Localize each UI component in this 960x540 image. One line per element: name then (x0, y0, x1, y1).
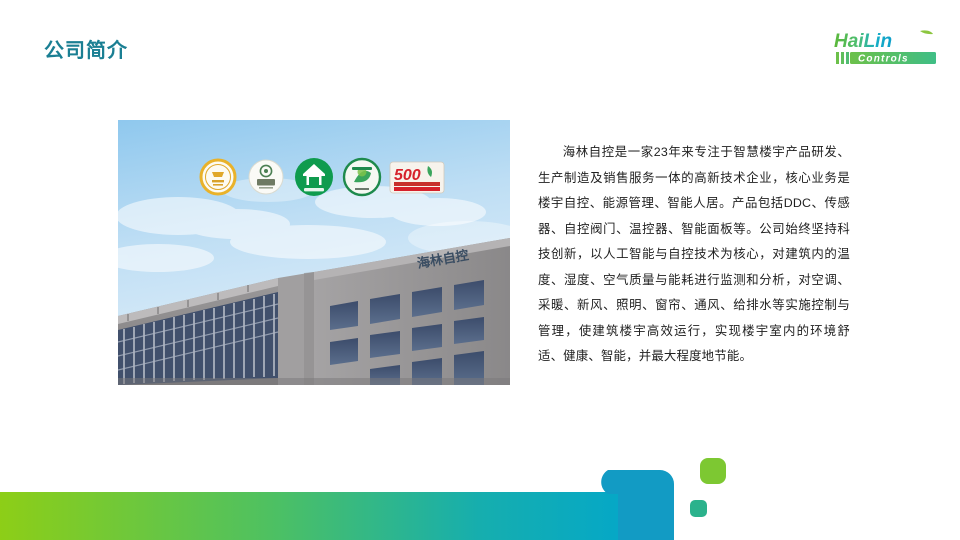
slide-root: 公司简介 HaiLin (0, 0, 960, 540)
badge-environment (344, 159, 380, 195)
bottom-gradient-bar (0, 492, 665, 540)
decor-small-teal-square (690, 500, 707, 517)
badge-green-home (295, 158, 333, 196)
badge-500-strong: 500 (390, 162, 444, 193)
hailin-controls-logo: HaiLin Controls (832, 27, 944, 69)
logo-wordmark: HaiLin (834, 31, 892, 52)
company-building-photo: 500 (118, 120, 510, 385)
page-title: 公司简介 (44, 41, 128, 61)
decor-green-square (700, 458, 726, 484)
decor-step-block (601, 470, 674, 518)
bottom-decoration (0, 450, 960, 540)
badge-gold-seal (201, 160, 235, 194)
badge-jinghuijia (249, 160, 283, 194)
leaf-icon (920, 30, 933, 34)
svg-text:500: 500 (394, 167, 421, 184)
company-profile-paragraph: 海林自控是一家23年来专注于智慧楼宇产品研发、生产制造及销售服务一体的高新技术企… (538, 140, 850, 370)
logo-tagline: Controls (858, 54, 909, 65)
